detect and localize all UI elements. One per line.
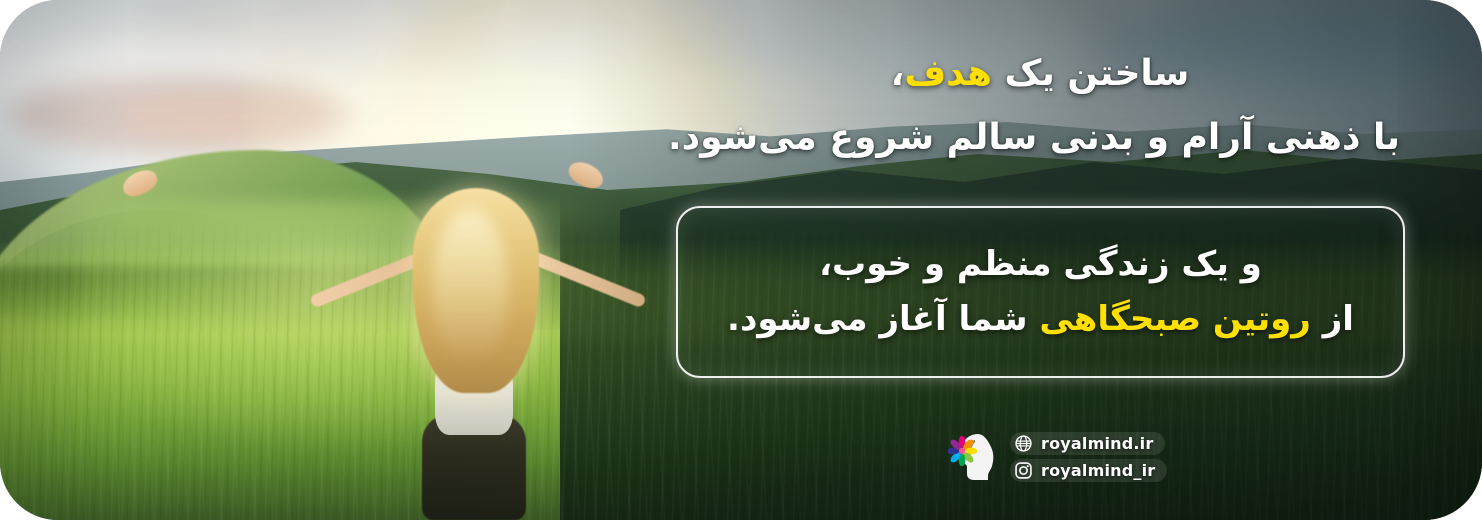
headline-accent-goal: هدف [904,53,992,94]
quote-accent-morning-routine: روتین صبحگاهی [1039,299,1311,339]
headline-line-1-pre: ساختن یک [992,53,1189,94]
website-handle-row[interactable]: royalmind.ir [1010,432,1165,455]
instagram-handle-text: royalmind_ir [1041,461,1155,480]
globe-icon [1014,434,1033,453]
social-strip: royalmind.ir royalmind_ir [948,428,1167,486]
instagram-handle-row[interactable]: royalmind_ir [1010,459,1167,482]
quote-line-2-post: شما آغاز می‌شود. [727,299,1039,339]
quote-line-2-pre: از [1311,299,1354,339]
instagram-icon [1014,461,1033,480]
social-handle-list: royalmind.ir royalmind_ir [1010,432,1167,482]
quote-line-2: از روتین صبحگاهی شما آغاز می‌شود. [727,292,1354,347]
website-handle-text: royalmind.ir [1041,434,1153,453]
headline-line-2: با ذهنی آرام و بدنی سالم شروع می‌شود. [680,110,1400,166]
promo-banner: ساختن یک هدف، با ذهنی آرام و بدنی سالم ش… [0,0,1482,520]
headline-line-1: ساختن یک هدف، [680,46,1400,102]
quote-line-1: و یک زندگی منظم و خوب، [819,237,1262,292]
headline-block: ساختن یک هدف، با ذهنی آرام و بدنی سالم ش… [680,46,1400,166]
headline-line-1-post: ، [891,53,905,94]
royalmind-head-brain-logo[interactable] [948,428,1000,486]
quote-box: و یک زندگی منظم و خوب، از روتین صبحگاهی … [676,206,1405,378]
